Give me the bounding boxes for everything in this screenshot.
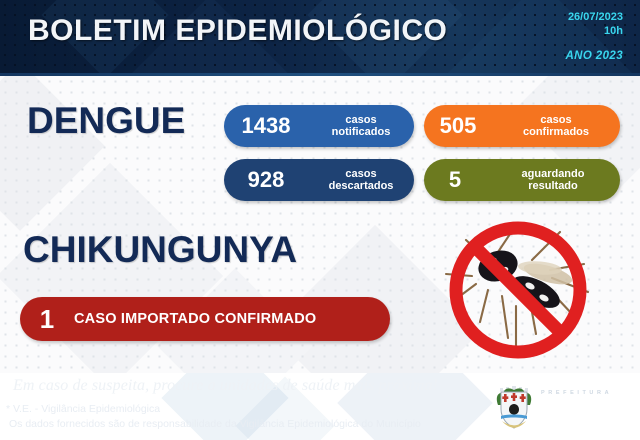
footer-call-to-action: Em caso de suspeita, procure a unidades …: [13, 377, 438, 395]
footer-disclaimer: Os dados fornecidos são de responsabilid…: [9, 418, 421, 430]
stat-value-descartados: 928: [224, 167, 308, 193]
logo-city-name: TIETÊ: [541, 399, 622, 423]
no-mosquito-icon: [432, 218, 604, 368]
stat-label-descartados: casos descartados: [308, 168, 414, 193]
stat-pill-aguardando: 5 aguardando resultado: [424, 159, 620, 201]
page-title: BOLETIM EPIDEMIOLÓGICO: [28, 14, 447, 48]
municipality-logo: PREFEITURA TIETÊ: [492, 381, 634, 433]
coat-of-arms-icon: [492, 383, 536, 431]
bulletin-date: 26/07/2023: [568, 10, 623, 24]
bulletin-year: ANO 2023: [565, 50, 623, 62]
dengue-section-title: DENGUE: [27, 100, 185, 142]
bulletin-time: 10h: [568, 24, 623, 38]
footer-abbreviation-note: * V.E. - Vigilância Epidemiológica: [6, 403, 160, 415]
stat-pill-notificados: 1438 casos notificados: [224, 105, 414, 147]
chikungunya-section-title: CHIKUNGUNYA: [23, 229, 297, 271]
stat-pill-descartados: 928 casos descartados: [224, 159, 414, 201]
stat-pill-confirmados: 505 casos confirmados: [424, 105, 620, 147]
stat-value-aguardando: 5: [424, 167, 486, 193]
stat-label-notificados: casos notificados: [308, 114, 414, 139]
logo-prefix: PREFEITURA: [541, 391, 622, 397]
stat-label-chikungunya: CASO IMPORTADO CONFIRMADO: [74, 313, 390, 326]
logo-text: PREFEITURA TIETÊ: [541, 391, 622, 423]
stat-value-confirmados: 505: [424, 113, 492, 139]
stat-label-confirmados: casos confirmados: [492, 114, 620, 139]
stat-value-notificados: 1438: [224, 113, 308, 139]
header-datetime: 26/07/2023 10h: [568, 10, 623, 38]
header-banner: BOLETIM EPIDEMIOLÓGICO 26/07/2023 10h AN…: [0, 0, 640, 73]
stat-label-aguardando: aguardando resultado: [486, 168, 620, 193]
epidemiological-bulletin-poster: BOLETIM EPIDEMIOLÓGICO 26/07/2023 10h AN…: [0, 0, 640, 440]
stat-value-chikungunya: 1: [20, 304, 74, 335]
stat-pill-chikungunya: 1 CASO IMPORTADO CONFIRMADO: [20, 297, 390, 341]
